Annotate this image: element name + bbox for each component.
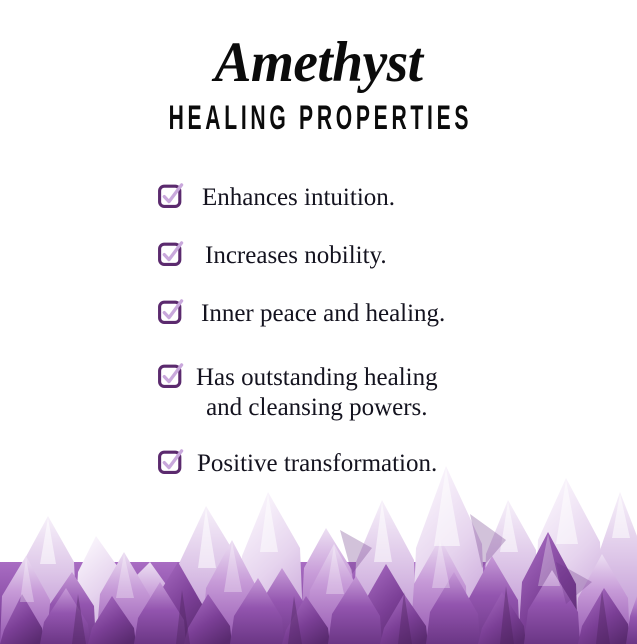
list-item: Increases nobility. <box>0 240 637 272</box>
checkbox-checked-icon <box>158 185 184 211</box>
checkbox-checked-icon <box>158 365 184 391</box>
poster-root: Amethyst HEALING PROPERTIES Enhances int… <box>0 0 637 644</box>
list-item-label: Inner peace and healing. <box>201 298 445 330</box>
page-title: Amethyst <box>10 34 628 91</box>
list-item: Has outstanding healing and cleansing po… <box>0 362 637 424</box>
list-item-label: Has outstanding healing and cleansing po… <box>196 362 438 424</box>
checkbox-checked-icon <box>158 301 184 327</box>
list-item-label: Increases nobility. <box>205 240 387 272</box>
properties-list: Enhances intuition. Increases nobility. … <box>0 178 637 479</box>
list-item-label: Enhances intuition. <box>202 182 395 214</box>
list-item: Enhances intuition. <box>0 182 637 214</box>
page-subtitle: HEALING PROPERTIES <box>121 101 516 135</box>
checkbox-checked-icon <box>158 243 184 269</box>
poster-header: Amethyst HEALING PROPERTIES <box>0 0 637 135</box>
amethyst-crystal-cluster <box>0 444 637 644</box>
list-item: Inner peace and healing. <box>0 298 637 330</box>
